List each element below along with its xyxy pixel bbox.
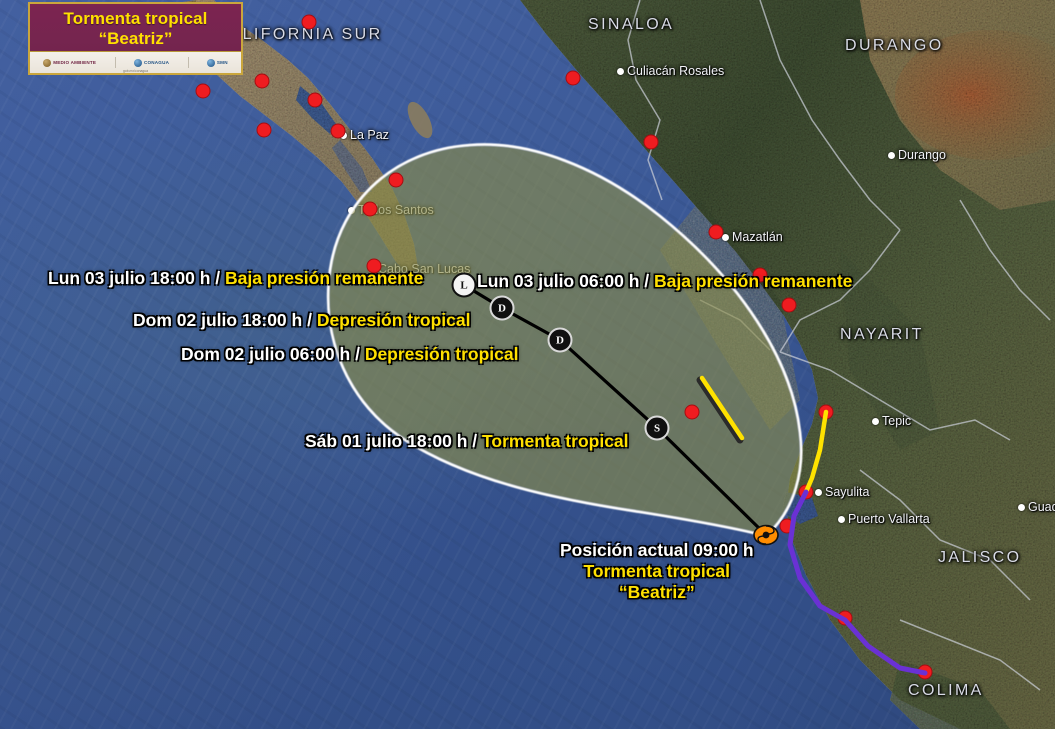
- track-marker-l: L: [452, 273, 477, 298]
- coastal-warning-dot: [331, 124, 346, 139]
- logo-divider: [115, 57, 116, 68]
- track-marker-s: S: [645, 416, 670, 441]
- landmass-layer: [0, 0, 1055, 729]
- logo-divider: [188, 57, 189, 68]
- coastal-warning-dot: [782, 298, 797, 313]
- water-drop-icon: [134, 59, 142, 67]
- coastal-warning-dot: [255, 74, 270, 89]
- logo-smn: SMN: [207, 59, 228, 67]
- eagle-icon: [207, 59, 215, 67]
- coastal-warning-dot: [753, 268, 768, 283]
- coastal-warning-dot: [838, 611, 853, 626]
- coastal-warning-dot: [799, 485, 814, 500]
- agency-logo-bar: MEDIO AMBIENTE CONAGUA SMN gob.mx/conagu…: [30, 51, 241, 73]
- coastal-warning-dot: [389, 173, 404, 188]
- track-marker-d: D: [548, 328, 573, 353]
- coastal-warning-dot: [308, 93, 323, 108]
- title-banner: Tormenta tropical “Beatriz” MEDIO AMBIEN…: [28, 2, 243, 75]
- coastal-warning-dot: [367, 259, 382, 274]
- track-marker-d: D: [490, 296, 515, 321]
- coastal-warning-dot: [709, 225, 724, 240]
- social-strip: gob.mx/conagua: [30, 68, 241, 73]
- coastal-warning-dot: [644, 135, 659, 150]
- hurricane-forecast-map: BAJA CALIFORNIA SURSINALOADURANGONAYARIT…: [0, 0, 1055, 729]
- logo-medio-ambiente: MEDIO AMBIENTE: [43, 59, 96, 67]
- seal-icon: [43, 59, 51, 67]
- coastal-warning-dot: [566, 71, 581, 86]
- coastal-warning-dot: [302, 15, 317, 30]
- satellite-basemap: [0, 0, 1055, 729]
- logo-label: SMN: [217, 60, 228, 65]
- coastal-warning-dot: [257, 123, 272, 138]
- logo-label: MEDIO AMBIENTE: [53, 60, 96, 65]
- coastal-warning-dot: [780, 519, 795, 534]
- logo-conagua: CONAGUA: [134, 59, 169, 67]
- coastal-warning-dot: [918, 665, 933, 680]
- current-position-marker: [753, 522, 779, 548]
- coastal-warning-dot: [819, 405, 834, 420]
- coastal-warning-dot: [363, 202, 378, 217]
- banner-title: Tormenta tropical: [30, 4, 241, 29]
- logo-label: CONAGUA: [144, 60, 169, 65]
- coastal-warning-dot: [685, 405, 700, 420]
- banner-storm-name: “Beatriz”: [30, 29, 241, 48]
- coastal-warning-dot: [196, 84, 211, 99]
